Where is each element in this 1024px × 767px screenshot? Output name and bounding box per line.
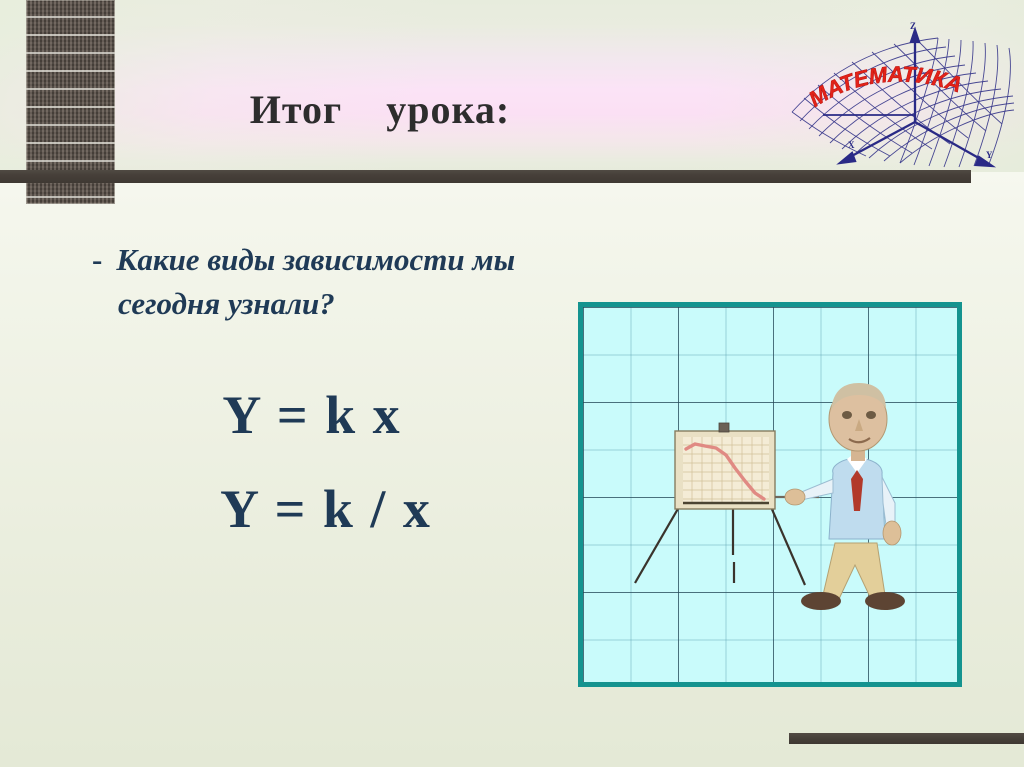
- axis-label-x: X: [848, 140, 855, 150]
- question-text-block: -Какие виды зависимости мы сегодня узнал…: [92, 238, 652, 326]
- easel-legs: [635, 507, 805, 585]
- question-line-2: сегодня узнали?: [118, 282, 652, 326]
- easel-board: [675, 423, 775, 509]
- teacher-easel-clipart: [583, 307, 957, 682]
- formula-direct-proportion: Y = k x: [94, 388, 530, 442]
- axis-label-z: Z: [910, 21, 916, 31]
- svg-text:МАТЕМАТИКА: МАТЕМАТИКА: [804, 61, 965, 111]
- teacher-figure: [785, 383, 905, 610]
- slide-canvas: Итог урока:: [0, 0, 1024, 767]
- bottom-accent-bar: [789, 733, 1024, 744]
- bullet-dash: -: [92, 242, 102, 277]
- question-line-1: Какие виды зависимости мы: [116, 242, 515, 277]
- math-surface-decoration: Z X Y МАТЕМАТИКА: [786, 18, 1014, 178]
- axis-label-y: Y: [986, 150, 993, 160]
- page-title: Итог урока:: [0, 86, 760, 133]
- matematika-label: МАТЕМАТИКА: [804, 61, 986, 111]
- formula-inverse-proportion: Y = k / x: [122, 482, 530, 536]
- illustration-grid-panel: [578, 302, 962, 687]
- formula-block: Y = k x Y = k / x: [100, 388, 530, 536]
